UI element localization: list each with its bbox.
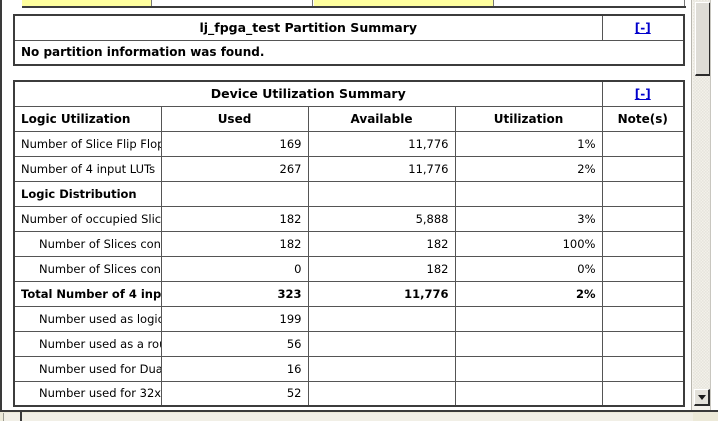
- collapse-toggle-link[interactable]: [-]: [635, 87, 651, 101]
- window-corner-notch: [20, 412, 22, 421]
- cell-notes: [602, 381, 684, 406]
- table-row: Number of Slices containing only related…: [14, 231, 684, 256]
- table-row: Number of 4 input LUTs26711,7762%: [14, 156, 684, 181]
- table-row: Number used for Dual Port RAMs16: [14, 356, 684, 381]
- partition-summary-title: lj_fpga_test Partition Summary: [14, 15, 602, 40]
- cell-available: [308, 331, 455, 356]
- column-header-utilization: Utilization: [455, 106, 602, 131]
- table-row: Total Number of 4 input LUTs32311,7762%: [14, 281, 684, 306]
- table-row: Number used as logic199: [14, 306, 684, 331]
- report-scroll-viewport[interactable]: lj_fpga_test Partition Summary [-] No pa…: [9, 0, 689, 410]
- cell-available: [308, 181, 455, 206]
- cell-notes: [602, 281, 684, 306]
- cell-utilization: [455, 306, 602, 331]
- cell-utilization: 0%: [455, 256, 602, 281]
- cell-label: Number used for Dual Port RAMs: [14, 356, 161, 381]
- scrollbar-thumb[interactable]: [695, 2, 711, 76]
- cell-notes: [602, 131, 684, 156]
- table-row: Logic Distribution: [14, 181, 684, 206]
- cell-utilization: 2%: [455, 156, 602, 181]
- table-row: Number of Slice Flip Flops16911,7761%: [14, 131, 684, 156]
- cell-notes: [602, 356, 684, 381]
- cell-utilization: 3%: [455, 206, 602, 231]
- scrollbar-track[interactable]: [693, 0, 710, 390]
- cell-utilization: 100%: [455, 231, 602, 256]
- cell-used: 56: [161, 331, 308, 356]
- cell-used: 169: [161, 131, 308, 156]
- table-row: Number of occupied Slices1825,8883%: [14, 206, 684, 231]
- cell-notes: [602, 306, 684, 331]
- window-frame-right: [710, 0, 718, 410]
- cell-label: Number used as logic: [14, 306, 161, 331]
- device-utilization-collapse-cell: [-]: [602, 81, 684, 106]
- partition-summary-message-row: No partition information was found.: [14, 40, 684, 65]
- cell-notes: [602, 181, 684, 206]
- cell-label: Number of occupied Slices: [14, 206, 161, 231]
- cell-used: 182: [161, 206, 308, 231]
- cell-available: 11,776: [308, 131, 455, 156]
- cell-used: 52: [161, 381, 308, 406]
- cell-used: 323: [161, 281, 308, 306]
- cell-label: Number of Slice Flip Flops: [14, 131, 161, 156]
- cell-utilization: 2%: [455, 281, 602, 306]
- device-utilization-column-header-row: Logic Utilization Used Available Utiliza…: [14, 106, 684, 131]
- cell-used: [161, 181, 308, 206]
- column-header-available: Available: [308, 106, 455, 131]
- cell-used: 199: [161, 306, 308, 331]
- cell-label: Total Number of 4 input LUTs: [14, 281, 161, 306]
- cell-available: 5,888: [308, 206, 455, 231]
- table-row: Number of Slices containing unrelated lo…: [14, 256, 684, 281]
- table-row: Number used as a route-thru56: [14, 331, 684, 356]
- column-header-logic-utilization: Logic Utilization: [14, 106, 161, 131]
- device-utilization-rows: Number of Slice Flip Flops16911,7761%Num…: [14, 131, 684, 406]
- vertical-scrollbar[interactable]: [691, 0, 710, 410]
- cell-used: 267: [161, 156, 308, 181]
- cell-label: Number used as a route-thru: [14, 331, 161, 356]
- cell-label: Number of 4 input LUTs: [14, 156, 161, 181]
- partition-summary-message: No partition information was found.: [14, 40, 684, 65]
- cell-used: 16: [161, 356, 308, 381]
- cell-available: 11,776: [308, 281, 455, 306]
- report-document: lj_fpga_test Partition Summary [-] No pa…: [9, 0, 689, 407]
- column-header-notes: Note(s): [602, 106, 684, 131]
- collapse-toggle-link[interactable]: [-]: [635, 21, 651, 35]
- cell-used: 182: [161, 231, 308, 256]
- cell-utilization: [455, 381, 602, 406]
- report-window: lj_fpga_test Partition Summary [-] No pa…: [0, 0, 718, 421]
- device-utilization-table: Device Utilization Summary [-] Logic Uti…: [13, 80, 685, 407]
- cell-available: 11,776: [308, 156, 455, 181]
- window-frame-left: [0, 0, 9, 411]
- cell-notes: [602, 256, 684, 281]
- cell-label: Number of Slices containing only related…: [14, 231, 161, 256]
- window-status-strip: [3, 413, 693, 421]
- partition-summary-table: lj_fpga_test Partition Summary [-] No pa…: [13, 14, 685, 66]
- scroll-down-button[interactable]: [694, 389, 710, 406]
- cell-available: [308, 381, 455, 406]
- cell-notes: [602, 331, 684, 356]
- cell-label: Number of Slices containing unrelated lo…: [14, 256, 161, 281]
- device-utilization-header-row: Device Utilization Summary [-]: [14, 81, 684, 106]
- cell-notes: [602, 156, 684, 181]
- cell-utilization: [455, 331, 602, 356]
- cell-utilization: [455, 181, 602, 206]
- cell-available: 182: [308, 231, 455, 256]
- cell-available: [308, 356, 455, 381]
- table-row: Number used for 32x1 RAMs52: [14, 381, 684, 406]
- cell-notes: [602, 206, 684, 231]
- cell-utilization: 1%: [455, 131, 602, 156]
- chevron-down-icon: [698, 395, 706, 400]
- cell-available: [308, 306, 455, 331]
- cell-available: 182: [308, 256, 455, 281]
- partition-summary-collapse-cell: [-]: [602, 15, 684, 40]
- column-header-used: Used: [161, 106, 308, 131]
- cell-notes: [602, 231, 684, 256]
- section-gap: [9, 66, 689, 80]
- cell-utilization: [455, 356, 602, 381]
- cell-label: Number used for 32x1 RAMs: [14, 381, 161, 406]
- partition-summary-header-row: lj_fpga_test Partition Summary [-]: [14, 15, 684, 40]
- cell-label: Logic Distribution: [14, 181, 161, 206]
- device-utilization-title: Device Utilization Summary: [14, 81, 602, 106]
- cell-used: 0: [161, 256, 308, 281]
